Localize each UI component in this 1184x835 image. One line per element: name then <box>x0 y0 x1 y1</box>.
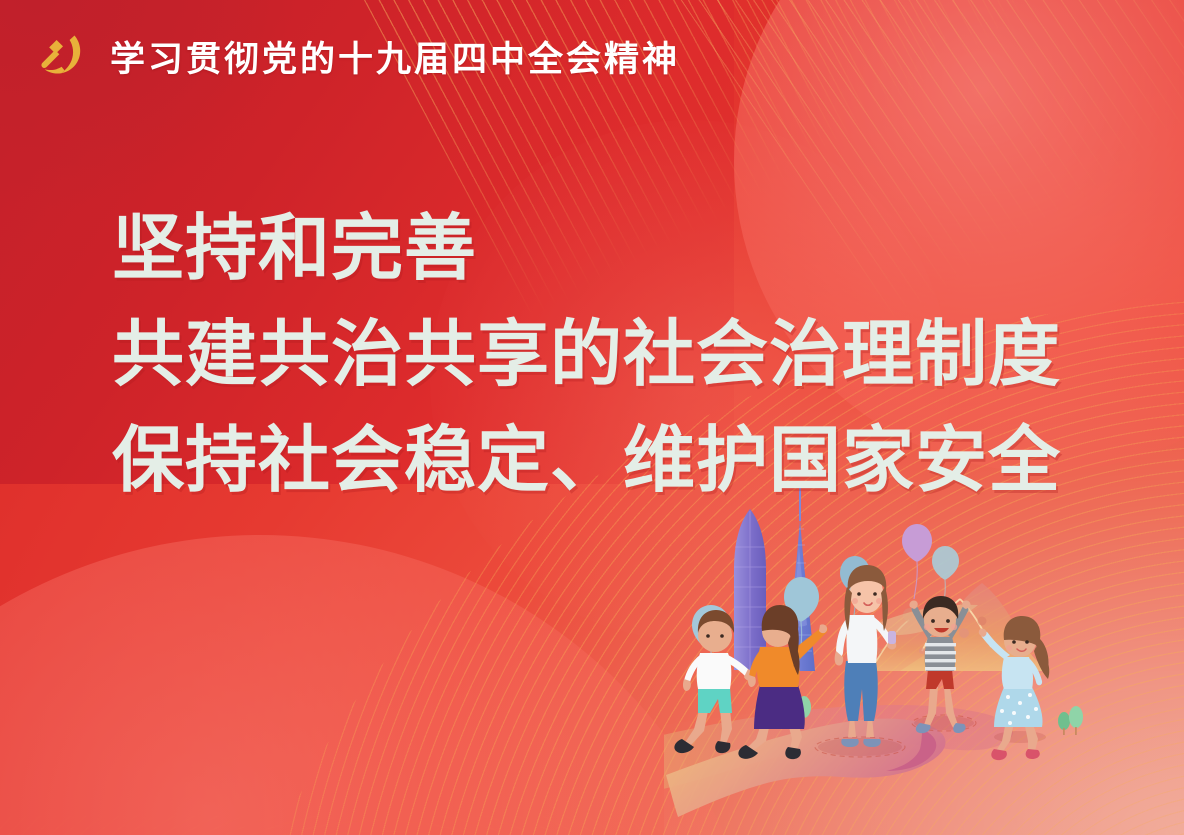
headline-line-1: 坚持和完善 <box>112 196 1061 302</box>
poster-canvas: 学习贯彻党的十九届四中全会精神 坚持和完善 共建共治共享的社会治理制度 保持社会… <box>0 0 1184 835</box>
headline-block: 坚持和完善 共建共治共享的社会治理制度 保持社会稳定、维护国家安全 <box>112 196 1061 514</box>
illustration-scene <box>664 475 1184 835</box>
ctf-finance-centre-icon <box>734 509 766 670</box>
header-title: 学习贯彻党的十九届四中全会精神 <box>110 31 680 82</box>
header-bar: 学习贯彻党的十九届四中全会精神 <box>0 0 1184 112</box>
balloon-purple-icon <box>902 524 932 599</box>
headline-line-3: 保持社会稳定、维护国家安全 <box>112 408 1061 514</box>
headline-line-2: 共建共治共享的社会治理制度 <box>112 302 1061 408</box>
party-emblem-icon <box>36 31 88 81</box>
